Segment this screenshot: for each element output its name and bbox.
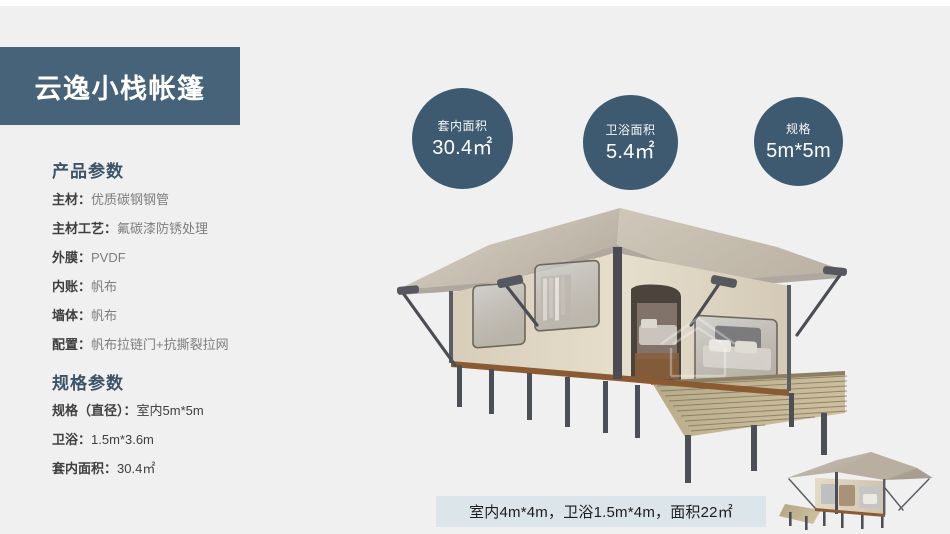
spec-value: 氟碳漆防锈处理 [117,221,208,236]
product-parameters-heading: 产品参数 [52,163,352,182]
spec-parameters-section: 规格参数 规格（直径）：室内5m*5m 卫浴：1.5m*3.6m 套内面积：30… [52,375,352,476]
title-banner: 云逸小栈帐篷 [0,47,240,125]
spec-row: 套内面积：30.4㎡ [52,462,352,475]
spec-row: 内账：帆布 [52,280,352,293]
spec-row: 卫浴：1.5m*3.6m [52,433,352,446]
stat-badge-interior-area: 套内面积 30.4㎡ [412,88,513,189]
stat-badge-bathroom-area: 卫浴面积 5.4㎡ [583,95,678,190]
spec-label: 主材工艺： [52,221,117,236]
spec-value: 帆布 [91,308,117,323]
caption-text: 室内4m*4m，卫浴1.5m*4m，面积22㎡ [469,501,733,522]
spec-value: 30.4㎡ [117,461,155,476]
inset-window-2 [839,485,855,506]
spec-label: 配置： [52,337,91,352]
product-parameters-list: 主材：优质碳钢钢管 主材工艺：氟碳漆防锈处理 外膜：PVDF 内账：帆布 墙体：… [52,193,352,351]
spec-label: 内账： [52,279,91,294]
spec-value: 1.5m*3.6m [91,432,154,447]
doorway-floor [635,353,679,379]
spec-value: 优质碳钢钢管 [91,192,169,207]
spec-value: 帆布 [91,279,117,294]
page-title: 云逸小栈帐篷 [35,67,206,106]
stat-badge-label: 卫浴面积 [605,124,655,136]
spec-row: 规格（直径）：室内5m*5m [52,404,352,417]
spec-label: 规格（直径）： [52,403,137,418]
spec-row: 主材工艺：氟碳漆防锈处理 [52,222,352,235]
window-left-1 [473,282,525,348]
spec-parameters-heading: 规格参数 [52,375,352,394]
inset-tent-svg [775,448,940,534]
stat-badge-value: 30.4㎡ [432,138,492,158]
inset-bed [863,494,877,504]
spec-value: PVDF [91,250,126,265]
spec-label: 卫浴： [52,432,91,447]
spec-label: 外膜： [52,250,91,265]
stat-badge-value: 5m*5m [766,141,831,161]
specifications-panel: 产品参数 主材：优质碳钢钢管 主材工艺：氟碳漆防锈处理 外膜：PVDF 内账：帆… [52,163,352,491]
product-spec-page: 云逸小栈帐篷 产品参数 主材：优质碳钢钢管 主材工艺：氟碳漆防锈处理 外膜：PV… [0,0,950,534]
product-parameters-section: 产品参数 主材：优质碳钢钢管 主材工艺：氟碳漆防锈处理 外膜：PVDF 内账：帆… [52,163,352,351]
caption-bar: 室内4m*4m，卫浴1.5m*4m，面积22㎡ [436,496,766,527]
stat-badge-label: 套内面积 [437,120,487,132]
interior-wardrobe [541,274,571,322]
spec-parameters-list: 规格（直径）：室内5m*5m 卫浴：1.5m*3.6m 套内面积：30.4㎡ [52,404,352,475]
spec-row: 主材：优质碳钢钢管 [52,193,352,206]
stat-badge-dimensions: 规格 5m*5m [754,97,843,186]
main-tent-illustration [385,185,855,485]
spec-row: 外膜：PVDF [52,251,352,264]
stat-badge-label: 规格 [786,123,811,135]
inset-window-1 [821,484,835,504]
spec-label: 墙体： [52,308,91,323]
spec-row: 墙体：帆布 [52,309,352,322]
spec-row: 配置：帆布拉链门+抗撕裂拉网 [52,338,352,351]
top-white-strip [0,0,950,6]
spec-value: 帆布拉链门+抗撕裂拉网 [91,337,229,352]
stat-badge-value: 5.4㎡ [606,142,655,162]
spec-label: 套内面积： [52,461,117,476]
spec-value: 室内5m*5m [137,403,204,418]
spec-label: 主材： [52,192,91,207]
tent-svg [385,185,855,485]
inset-tent-thumbnail [775,448,940,534]
